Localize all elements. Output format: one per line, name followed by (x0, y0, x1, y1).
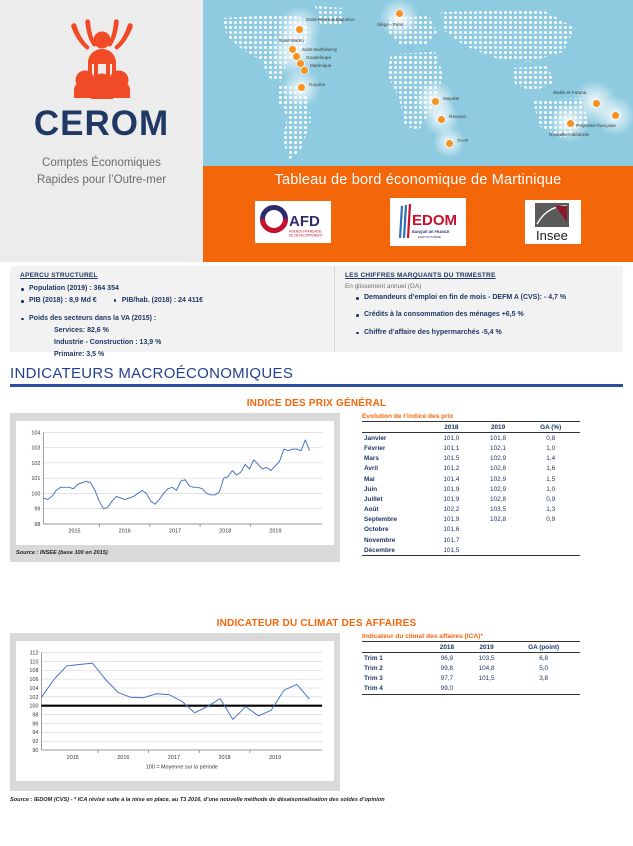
svg-text:108: 108 (29, 668, 38, 674)
table-row: Juin101,9102,91,0 (362, 484, 580, 494)
table-row: Mars101,5102,91,4 (362, 454, 580, 464)
map-pin-saint-martin (289, 46, 296, 53)
block-1-title: INDICE DES PRIX GÉNÉRAL (10, 398, 623, 409)
map-pin-saint-barthelemy (293, 53, 300, 60)
chart-2-source: Source : IEDOM (CVS) - * ICA révisé suit… (10, 797, 623, 803)
table-cell: 101,9 (428, 515, 475, 525)
map-pin-guyane (298, 84, 305, 91)
price-index-table: 20182019GA (%)Janvier101,0101,80,8Févrie… (362, 421, 580, 556)
table-cell: Janvier (362, 433, 428, 444)
table-cell: Septembre (362, 515, 428, 525)
column-header: 2018 (428, 642, 466, 653)
brand-panel: CEROM Comptes Économiques Rapides pour l… (0, 0, 203, 262)
column-header (362, 642, 428, 653)
table-cell: 99,0 (428, 684, 466, 695)
stat-primary: Primaire: 3,5 % (54, 351, 104, 358)
table-cell: Novembre (362, 535, 428, 545)
svg-text:2016: 2016 (117, 755, 129, 761)
brand-subtitle-line1: Comptes Économiques (37, 155, 166, 172)
cerom-figure-icon (60, 18, 144, 100)
afd-tagline-2: DE DÉVELOPPEMENT (289, 233, 323, 238)
chart-2-card: 9092949698100102104106108110112201520162… (16, 641, 334, 781)
stats-strip: APERCU STRUCTUREL Population (2019) : 36… (10, 266, 623, 352)
svg-text:2017: 2017 (168, 755, 180, 761)
stat-services: Services: 82,6 % (54, 327, 109, 334)
table-cell: 101,9 (428, 494, 475, 504)
svg-text:96: 96 (32, 721, 38, 727)
table-cell: Trim 4 (362, 684, 428, 695)
table-cell: 0,8 (521, 433, 580, 444)
map-pin-saint-pierre-miquelon (296, 26, 303, 33)
table-cell: 0,9 (521, 494, 580, 504)
column-header: GA (%) (521, 422, 580, 433)
table-cell: Octobre (362, 525, 428, 535)
business-climate-table: 20182019GA (point)Trim 196,9103,56,8Trim… (362, 641, 580, 695)
svg-text:106: 106 (29, 677, 38, 683)
stats-structural-overview: APERCU STRUCTUREL Population (2019) : 36… (10, 266, 335, 352)
table-row: Trim 299,8104,85,0 (362, 663, 580, 673)
table-cell: 101,4 (428, 474, 475, 484)
map-pin-reunion (438, 116, 445, 123)
svg-text:100 = Moyenne sur la période: 100 = Moyenne sur la période (146, 765, 218, 771)
table-row: Février101,1102,11,0 (362, 443, 580, 453)
map-label-siege-paris: Siège - Paris (377, 22, 403, 27)
stats-right-note: En glissement annuel (GA) (345, 283, 615, 290)
table-cell: 102,8 (475, 464, 522, 474)
table-cell: 1,4 (521, 454, 580, 464)
map-label-taaf: TAAF (457, 138, 468, 143)
table-row: Septembre101,9102,80,9 (362, 515, 580, 525)
block-2-title: INDICATEUR DU CLIMAT DES AFFAIRES (10, 618, 623, 629)
hero-title: Tableau de bord économique de Martinique (203, 172, 633, 188)
table-cell: 102,8 (475, 515, 522, 525)
map-label-guyane: Guyane (309, 82, 325, 87)
table-cell: 1,5 (521, 474, 580, 484)
table-row: Mai101,4102,91,5 (362, 474, 580, 484)
svg-text:99: 99 (34, 507, 40, 513)
svg-text:2016: 2016 (119, 529, 131, 535)
svg-text:2019: 2019 (269, 529, 281, 535)
table-cell: 0,9 (521, 515, 580, 525)
map-label-polynesie-francaise: Polynésie française (576, 123, 616, 128)
svg-text:90: 90 (32, 748, 38, 754)
block-1-body: 989910010110210310420152016201720182019 … (10, 413, 623, 562)
table-cell: Décembre (362, 545, 428, 556)
svg-text:AFD: AFD (289, 213, 320, 230)
table-cell: Juillet (362, 494, 428, 504)
table-cell: 101,8 (475, 433, 522, 444)
table-2-title: Indicateur du climat des affaires (ICA)* (362, 633, 623, 640)
list-item: Crédits à la consommation des ménages +6… (355, 309, 615, 321)
table-cell: 101,5 (428, 454, 475, 464)
table-row: Trim 397,7101,53,8 (362, 674, 580, 684)
table-cell: 103,5 (466, 653, 508, 664)
table-cell (466, 684, 508, 695)
table-cell: 102,8 (475, 494, 522, 504)
table-cell (475, 545, 522, 556)
map-label-guadeloupe: Guadeloupe (306, 55, 331, 60)
table-cell (475, 535, 522, 545)
table-cell: Trim 1 (362, 653, 428, 664)
table-cell (521, 545, 580, 556)
table-cell: 101,1 (428, 443, 475, 453)
logo-iedom: EDOM BANQUE DE FRANCE EUROSYSTÈME (390, 198, 466, 246)
map-pin-siege-paris (396, 10, 403, 17)
table-cell: Mai (362, 474, 428, 484)
chart-1-card: 989910010110210310420152016201720182019 (16, 421, 334, 545)
stats-left-list: Population (2019) : 364 354 PIB (2018) :… (20, 283, 326, 362)
table-header-row: 20182019GA (%) (362, 422, 580, 433)
document-page: CEROM Comptes Économiques Rapides pour l… (0, 0, 633, 846)
table-cell: 1,0 (521, 443, 580, 453)
world-map-dots (203, 0, 633, 166)
table-row: Août102,2103,51,3 (362, 505, 580, 515)
block-indice-prix: INDICE DES PRIX GÉNÉRAL 9899100101102103… (10, 398, 623, 562)
map-pin-nouvelle-caledonie (567, 120, 574, 127)
chart-1-container: 989910010110210310420152016201720182019 … (10, 413, 340, 562)
list-item: Population (2019) : 364 354 (20, 283, 326, 295)
table-row: Novembre101,7 (362, 535, 580, 545)
stats-left-title: APERCU STRUCTUREL (20, 272, 326, 279)
map-label-wallis-et-futuna: Wallis-et-Futuna (553, 90, 586, 95)
table-cell: 99,8 (428, 663, 466, 673)
table-cell: 101,0 (428, 433, 475, 444)
section-divider (10, 384, 623, 387)
table-cell: 1,3 (521, 505, 580, 515)
table-cell: 101,2 (428, 464, 475, 474)
column-header (362, 422, 428, 433)
column-header: GA (point) (507, 642, 580, 653)
map-pin-wallis-et-futuna (593, 100, 600, 107)
map-label-reunion: Réunion (449, 114, 466, 119)
svg-text:104: 104 (31, 430, 40, 436)
table-1-title: Evolution de l’indice des prix (362, 413, 623, 420)
table-cell: 1,6 (521, 464, 580, 474)
svg-text:98: 98 (32, 713, 38, 719)
map-label-mayotte: Mayotte (443, 96, 459, 101)
table-cell: 1,0 (521, 484, 580, 494)
map-pin-polynesie-francaise (612, 112, 619, 119)
logo-insee: Insee (525, 200, 581, 244)
svg-text:94: 94 (32, 730, 38, 736)
svg-text:2017: 2017 (169, 529, 181, 535)
table-cell (521, 535, 580, 545)
table-cell: 103,5 (475, 505, 522, 515)
svg-text:98: 98 (34, 522, 40, 528)
svg-text:100: 100 (29, 704, 38, 710)
table-cell: 101,5 (466, 674, 508, 684)
table-cell: 5,0 (507, 663, 580, 673)
svg-text:Insee: Insee (536, 228, 568, 243)
table-cell: Mars (362, 454, 428, 464)
table-cell: 101,6 (428, 525, 475, 535)
list-item: Demandeurs d’emploi en fin de mois - DEF… (355, 292, 615, 304)
table-cell: Avril (362, 464, 428, 474)
iedom-tagline-1: BANQUE DE FRANCE (412, 230, 450, 234)
svg-text:EDOM: EDOM (412, 212, 457, 229)
table-cell: 3,8 (507, 674, 580, 684)
table-cell: Février (362, 443, 428, 453)
table-cell: 101,5 (428, 545, 475, 556)
svg-text:92: 92 (32, 739, 38, 745)
column-header: 2018 (428, 422, 475, 433)
table-cell: 6,8 (507, 653, 580, 664)
svg-text:2018: 2018 (218, 755, 230, 761)
table-cell: Juin (362, 484, 428, 494)
table-cell (475, 525, 522, 535)
brand-subtitle: Comptes Économiques Rapides pour l’Outre… (37, 155, 166, 190)
logo-afd: AFD AGENCE FRANÇAISE DE DÉVELOPPEMENT (255, 201, 331, 243)
page-header: CEROM Comptes Économiques Rapides pour l… (0, 0, 633, 262)
iedom-tagline-2: EUROSYSTÈME (418, 234, 441, 239)
list-item: Chiffre d’affaire des hypermarchés -5,4 … (355, 327, 615, 339)
stats-right-title: LES CHIFFRES MARQUANTS DU TRIMESTRE (345, 272, 615, 279)
svg-text:101: 101 (31, 476, 40, 482)
svg-text:2015: 2015 (68, 529, 80, 535)
svg-text:2018: 2018 (219, 529, 231, 535)
partner-logos: AFD AGENCE FRANÇAISE DE DÉVELOPPEMENT ED… (203, 198, 633, 246)
map-label-saint-martin: Saint-Martin (279, 38, 304, 43)
table-cell: 101,9 (428, 484, 475, 494)
table-cell (521, 525, 580, 535)
stats-right-list: Demandeurs d’emploi en fin de mois - DEF… (345, 292, 615, 339)
map-label-nouvelle-caledonie: Nouvelle-Calédonie (549, 132, 589, 137)
table-cell: 104,8 (466, 663, 508, 673)
block-2-body: 9092949698100102104106108110112201520162… (10, 633, 623, 791)
svg-text:104: 104 (29, 686, 38, 692)
table-row: Décembre101,5 (362, 545, 580, 556)
table-1-container: Evolution de l’indice des prix 20182019G… (340, 413, 623, 562)
table-row: Janvier101,0101,80,8 (362, 433, 580, 444)
svg-text:112: 112 (30, 650, 39, 656)
page-title: INDICATEURS MACROÉCONOMIQUES (10, 365, 623, 382)
table-2-container: Indicateur du climat des affaires (ICA)*… (340, 633, 623, 791)
column-header: 2019 (475, 422, 522, 433)
brand-subtitle-line2: Rapides pour l’Outre-mer (37, 172, 166, 189)
table-row: Trim 499,0 (362, 684, 580, 695)
highlight-hypermarches: Chiffre d’affaire des hypermarchés -5,4 … (364, 329, 502, 336)
list-item: Industrie - Construction : 13,9 % (20, 337, 326, 349)
stat-pib: PIB (2018) : 8,9 Md € (29, 297, 97, 304)
map-pin-martinique (301, 67, 308, 74)
map-label-saint-pierre-miquelon: Saint-Pierre & Miquelon (306, 17, 362, 23)
stat-sectors-label: Poids des secteurs dans la VA (2015) : (29, 315, 156, 322)
svg-text:102: 102 (31, 461, 40, 467)
chart-2-container: 9092949698100102104106108110112201520162… (10, 633, 340, 791)
map-pin-mayotte (432, 98, 439, 105)
world-map: Saint-Pierre & Miquelon Siège - Paris Sa… (203, 0, 633, 166)
svg-text:110: 110 (30, 659, 39, 665)
table-cell: 101,7 (428, 535, 475, 545)
table-cell: 102,9 (475, 454, 522, 464)
highlight-credits: Crédits à la consommation des ménages +6… (364, 311, 524, 318)
block-climat-affaires: INDICATEUR DU CLIMAT DES AFFAIRES 909294… (10, 618, 623, 791)
chart-1-source: Source : INSEE (base 100 en 2015) (16, 550, 334, 556)
table-row: Trim 196,9103,56,8 (362, 653, 580, 664)
price-index-line-chart: 989910010110210310420152016201720182019 (18, 425, 328, 543)
highlight-defm: Demandeurs d’emploi en fin de mois - DEF… (364, 294, 566, 301)
svg-text:100: 100 (31, 491, 40, 497)
list-item: Primaire: 3,5 % (20, 349, 326, 361)
table-cell (507, 684, 580, 695)
column-header: 2019 (466, 642, 508, 653)
section-heading: INDICATEURS MACROÉCONOMIQUES (10, 365, 623, 387)
table-cell: 102,9 (475, 484, 522, 494)
table-cell: 102,2 (428, 505, 475, 515)
map-pin-guadeloupe (297, 60, 304, 67)
map-label-martinique: Martinique (310, 63, 331, 68)
table-cell: Trim 2 (362, 663, 428, 673)
table-cell: 97,7 (428, 674, 466, 684)
business-climate-line-chart: 9092949698100102104106108110112201520162… (18, 645, 328, 779)
list-item: Poids des secteurs dans la VA (2015) : (20, 313, 326, 325)
stats-quarter-highlights: LES CHIFFRES MARQUANTS DU TRIMESTRE En g… (335, 266, 623, 352)
stat-population: Population (2019) : 364 354 (29, 285, 119, 292)
svg-text:2015: 2015 (67, 755, 79, 761)
table-row: Octobre101,6 (362, 525, 580, 535)
hero-panel: Saint-Pierre & Miquelon Siège - Paris Sa… (203, 0, 633, 262)
table-cell: Août (362, 505, 428, 515)
table-header-row: 20182019GA (point) (362, 642, 580, 653)
svg-text:103: 103 (31, 446, 40, 452)
stat-industry: Industrie - Construction : 13,9 % (54, 339, 161, 346)
map-label-saint-barthelemy: Saint-Barthélemy (302, 47, 337, 52)
map-pin-taaf (446, 140, 453, 147)
table-cell: 96,9 (428, 653, 466, 664)
table-cell: Trim 3 (362, 674, 428, 684)
list-item: Services: 82,6 % (20, 325, 326, 337)
svg-text:102: 102 (29, 695, 38, 701)
table-row: Juillet101,9102,80,9 (362, 494, 580, 504)
stat-pib-hab: PIB/hab. (2018) : 24 411€ (113, 295, 203, 307)
table-row: Avril101,2102,81,6 (362, 464, 580, 474)
table-cell: 102,9 (475, 474, 522, 484)
list-item: PIB (2018) : 8,9 Md €PIB/hab. (2018) : 2… (20, 295, 326, 307)
svg-text:2019: 2019 (269, 755, 281, 761)
brand-name: CEROM (34, 106, 169, 141)
table-cell: 102,1 (475, 443, 522, 453)
